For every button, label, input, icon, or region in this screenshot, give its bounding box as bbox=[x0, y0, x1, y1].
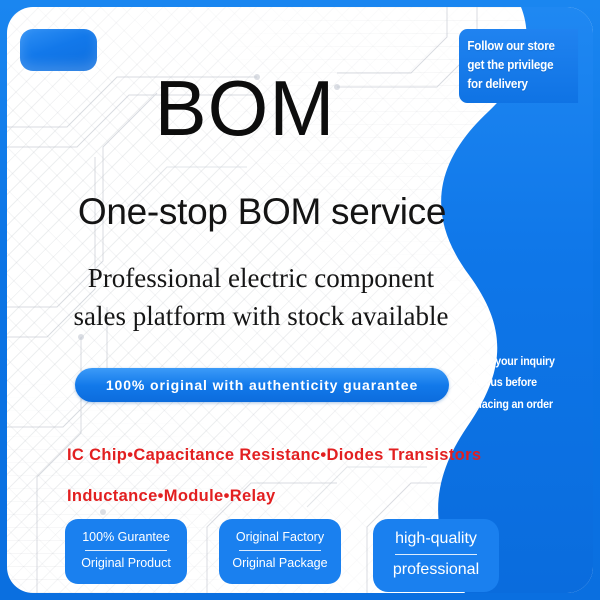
trust-badge: high-quality professional bbox=[373, 519, 499, 592]
product-category-line-2: Inductance•Module•Relay bbox=[67, 476, 481, 517]
trust-badge: Original Factory Original Package bbox=[219, 519, 341, 584]
authenticity-guarantee-pill[interactable]: 100% original with authenticity guarante… bbox=[75, 368, 449, 402]
trust-badge-group: 100% Gurantee Original Product Original … bbox=[65, 519, 499, 592]
trust-badge-bottom-label: professional bbox=[388, 558, 484, 582]
trust-badge-top-label: high-quality bbox=[388, 527, 484, 551]
trust-badge-divider bbox=[239, 550, 321, 551]
send-inquiry-line-1: Send your inquiry bbox=[467, 352, 580, 373]
trust-badge-divider bbox=[395, 554, 477, 555]
product-category-line-1: IC Chip•Capacitance Resistanc•Diodes Tra… bbox=[67, 435, 481, 476]
send-inquiry-line-2: with us before bbox=[467, 373, 580, 394]
trust-badge-top-label: Original Factory bbox=[232, 528, 328, 547]
page-title: BOM bbox=[7, 69, 593, 147]
trust-badge-bottom-label: Original Product bbox=[78, 554, 174, 573]
brand-logo-placeholder[interactable] bbox=[20, 29, 97, 71]
authenticity-guarantee-label: 100% original with authenticity guarante… bbox=[106, 377, 418, 393]
send-inquiry-line-3: placing an order bbox=[467, 395, 580, 416]
hero-description-line-1: Professional electric component bbox=[7, 259, 515, 297]
hero-description: Professional electric component sales pl… bbox=[7, 259, 593, 336]
white-content-card: Follow our store get the privilege for d… bbox=[7, 7, 593, 593]
trust-badge-top-label: 100% Gurantee bbox=[78, 528, 174, 547]
promo-banner: Follow our store get the privilege for d… bbox=[0, 0, 600, 600]
trust-badge-bottom-label: Original Package bbox=[232, 554, 328, 573]
trust-badge: 100% Gurantee Original Product bbox=[65, 519, 187, 584]
hero-description-line-2: sales platform with stock available bbox=[7, 297, 515, 335]
send-inquiry-callout: Send your inquiry with us before placing… bbox=[467, 352, 580, 416]
hero-subtitle: One-stop BOM service bbox=[7, 193, 593, 230]
follow-store-line-1: Follow our store bbox=[467, 37, 572, 56]
product-category-list: IC Chip•Capacitance Resistanc•Diodes Tra… bbox=[67, 435, 481, 518]
trust-badge-divider bbox=[85, 550, 167, 551]
